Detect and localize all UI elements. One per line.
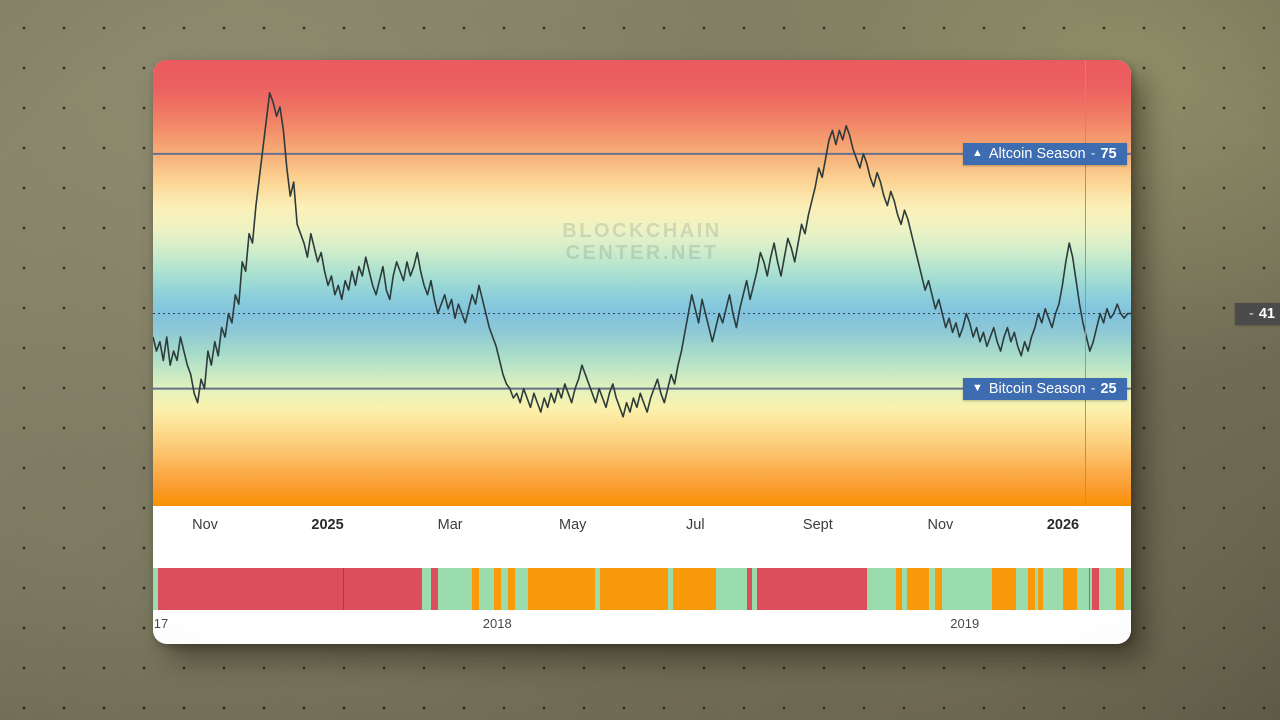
navigator-band (158, 568, 422, 610)
x-axis-tick-jul: Jul (686, 517, 705, 533)
index-line-series (153, 60, 1131, 506)
navigator-band (494, 568, 501, 610)
navigator-handle-right[interactable] (1089, 568, 1090, 610)
navigator-band (902, 568, 907, 610)
navigator-band (757, 568, 867, 610)
triangle-down-icon: ▼ (972, 383, 983, 394)
navigator-band (1016, 568, 1029, 610)
y-axis-line (1085, 60, 1086, 506)
navigator-band (1028, 568, 1035, 610)
callout-current-value[interactable]: -41 (1235, 303, 1280, 325)
navigator-band (747, 568, 752, 610)
navigator-year-2019: 2019 (950, 616, 979, 631)
x-axis-tick-2026: 2026 (1047, 517, 1079, 533)
navigator-band (752, 568, 758, 610)
navigator-band (600, 568, 668, 610)
callout-separator: - (1091, 146, 1096, 162)
series-path-altcoin-season-index (153, 93, 1131, 417)
navigator-band (1116, 568, 1124, 610)
navigator-band (595, 568, 600, 610)
navigator-band (1099, 568, 1117, 610)
x-axis-tick-sept: Sept (803, 517, 833, 533)
callout-separator: - (1091, 381, 1096, 397)
navigator-band (1092, 568, 1099, 610)
navigator-band (153, 568, 158, 610)
navigator-band (673, 568, 716, 610)
navigator-band (438, 568, 472, 610)
x-axis-tick-nov: Nov (192, 517, 218, 533)
navigator-band (668, 568, 673, 610)
range-navigator[interactable]: 1720182019 (153, 568, 1131, 644)
callout-value: 75 (1100, 146, 1116, 162)
navigator-band (896, 568, 902, 610)
callout-separator: - (1249, 306, 1254, 322)
x-axis-tick-nov: Nov (928, 517, 954, 533)
navigator-band (1038, 568, 1043, 610)
navigator-band (479, 568, 495, 610)
navigator-season-bands[interactable] (153, 568, 1131, 610)
navigator-band (942, 568, 992, 610)
plot-area[interactable]: BLOCKCHAIN CENTER.NET (153, 60, 1131, 506)
navigator-band (1043, 568, 1063, 610)
navigator-band (716, 568, 746, 610)
callout-value: 41 (1259, 306, 1275, 322)
navigator-handle-left[interactable] (343, 568, 344, 610)
navigator-band (929, 568, 936, 610)
callout-altcoin-season[interactable]: ▲Altcoin Season-75 (963, 143, 1127, 165)
desktop-background: BLOCKCHAIN CENTER.NET Nov2025MarMayJulSe… (0, 0, 1280, 720)
callout-bitcoin-season[interactable]: ▼Bitcoin Season-25 (963, 378, 1127, 400)
navigator-band (907, 568, 929, 610)
navigator-year-2018: 2018 (483, 616, 512, 631)
navigator-band (528, 568, 595, 610)
navigator-band (508, 568, 515, 610)
x-axis-tick-may: May (559, 517, 586, 533)
navigator-band (501, 568, 508, 610)
navigator-band (867, 568, 896, 610)
navigator-band (431, 568, 438, 610)
triangle-up-icon: ▲ (972, 148, 983, 159)
navigator-band (515, 568, 528, 610)
callout-label: Altcoin Season (989, 146, 1086, 162)
navigator-band (1035, 568, 1038, 610)
callout-value: 25 (1100, 381, 1116, 397)
x-axis-tick-mar: Mar (438, 517, 463, 533)
navigator-band (935, 568, 942, 610)
navigator-band (1124, 568, 1131, 610)
x-axis-tick-2025: 2025 (311, 517, 343, 533)
navigator-band (992, 568, 1015, 610)
navigator-band (422, 568, 431, 610)
navigator-band (1063, 568, 1078, 610)
x-axis: Nov2025MarMayJulSeptNov2026 (153, 506, 1131, 568)
callout-label: Bitcoin Season (989, 381, 1086, 397)
navigator-year-17: 17 (154, 616, 168, 631)
navigator-band (472, 568, 479, 610)
